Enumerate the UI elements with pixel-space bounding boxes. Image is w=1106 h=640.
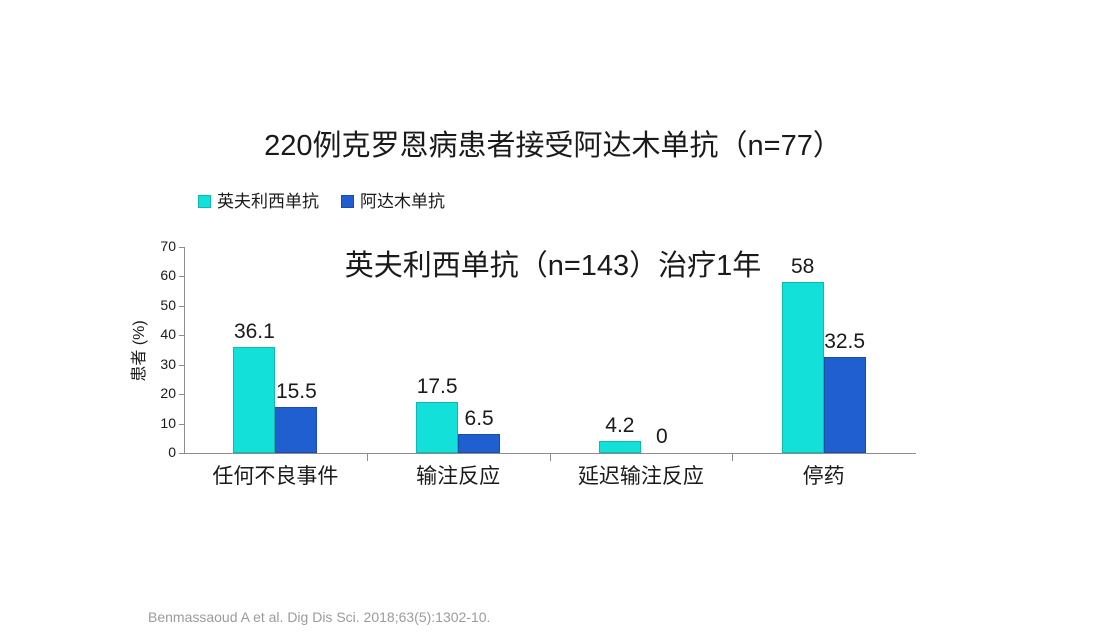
plot-area: 01020304050607036.115.517.56.54.205832.5 [184, 247, 915, 453]
y-tick-mark-50 [179, 306, 184, 307]
y-tick-mark-20 [179, 394, 184, 395]
legend-label-1: 阿达木单抗 [360, 193, 445, 210]
bar-value-label-0-1: 15.5 [276, 380, 317, 404]
bar-value-label-1-1: 6.5 [465, 407, 494, 431]
y-tick-label-10: 10 [160, 415, 176, 432]
bar-value-label-0-0: 36.1 [234, 320, 275, 344]
x-axis-category-label-2: 延迟输注反应 [578, 464, 704, 490]
y-tick-mark-30 [179, 365, 184, 366]
x-axis-category-label-1: 输注反应 [416, 464, 500, 490]
bar-0-0[interactable]: 36.1 [233, 347, 275, 453]
page-title-line-1: 220例克罗恩病患者接受阿达木单抗（n=77） [0, 126, 1106, 166]
chart-legend: 英夫利西单抗阿达木单抗 [198, 193, 445, 210]
x-axis-separator-1 [367, 453, 368, 461]
bar-0-1[interactable]: 15.5 [275, 407, 317, 453]
bar-3-1[interactable]: 32.5 [824, 357, 866, 453]
bar-value-label-2-0: 4.2 [605, 414, 634, 438]
y-axis-title-label: 患者 (%) [131, 320, 149, 381]
legend-swatch-icon-1 [341, 195, 354, 208]
y-tick-mark-70 [179, 247, 184, 248]
y-tick-mark-60 [179, 276, 184, 277]
y-tick-label-30: 30 [160, 356, 176, 373]
x-axis-separator-2 [550, 453, 551, 461]
bar-value-label-3-0: 58 [791, 255, 814, 279]
y-tick-label-70: 70 [160, 238, 176, 255]
y-tick-label-0: 0 [168, 444, 176, 461]
y-tick-mark-0 [179, 453, 184, 454]
y-tick-label-50: 50 [160, 297, 176, 314]
legend-item-0[interactable]: 英夫利西单抗 [198, 193, 319, 210]
x-axis-separator-3 [732, 453, 733, 461]
bar-3-0[interactable]: 58 [782, 282, 824, 453]
legend-label-0: 英夫利西单抗 [217, 193, 319, 210]
bar-value-label-2-1: 0 [656, 425, 668, 449]
bar-2-0[interactable]: 4.2 [599, 441, 641, 453]
legend-item-1[interactable]: 阿达木单抗 [341, 193, 445, 210]
y-tick-label-20: 20 [160, 385, 176, 402]
bar-value-label-1-0: 17.5 [417, 375, 458, 399]
bar-1-0[interactable]: 17.5 [416, 402, 458, 454]
y-axis-title: 患者 (%) [129, 296, 151, 406]
x-axis-category-label-0: 任何不良事件 [212, 464, 338, 490]
x-axis-category-label-3: 停药 [803, 464, 845, 490]
y-tick-label-40: 40 [160, 326, 176, 343]
y-tick-mark-10 [179, 424, 184, 425]
y-tick-mark-40 [179, 335, 184, 336]
y-tick-label-60: 60 [160, 267, 176, 284]
bar-value-label-3-1: 32.5 [824, 330, 865, 354]
bar-1-1[interactable]: 6.5 [458, 434, 500, 453]
citation-text: Benmassaoud A et al. Dig Dis Sci. 2018;6… [148, 608, 490, 626]
legend-swatch-icon-0 [198, 195, 211, 208]
